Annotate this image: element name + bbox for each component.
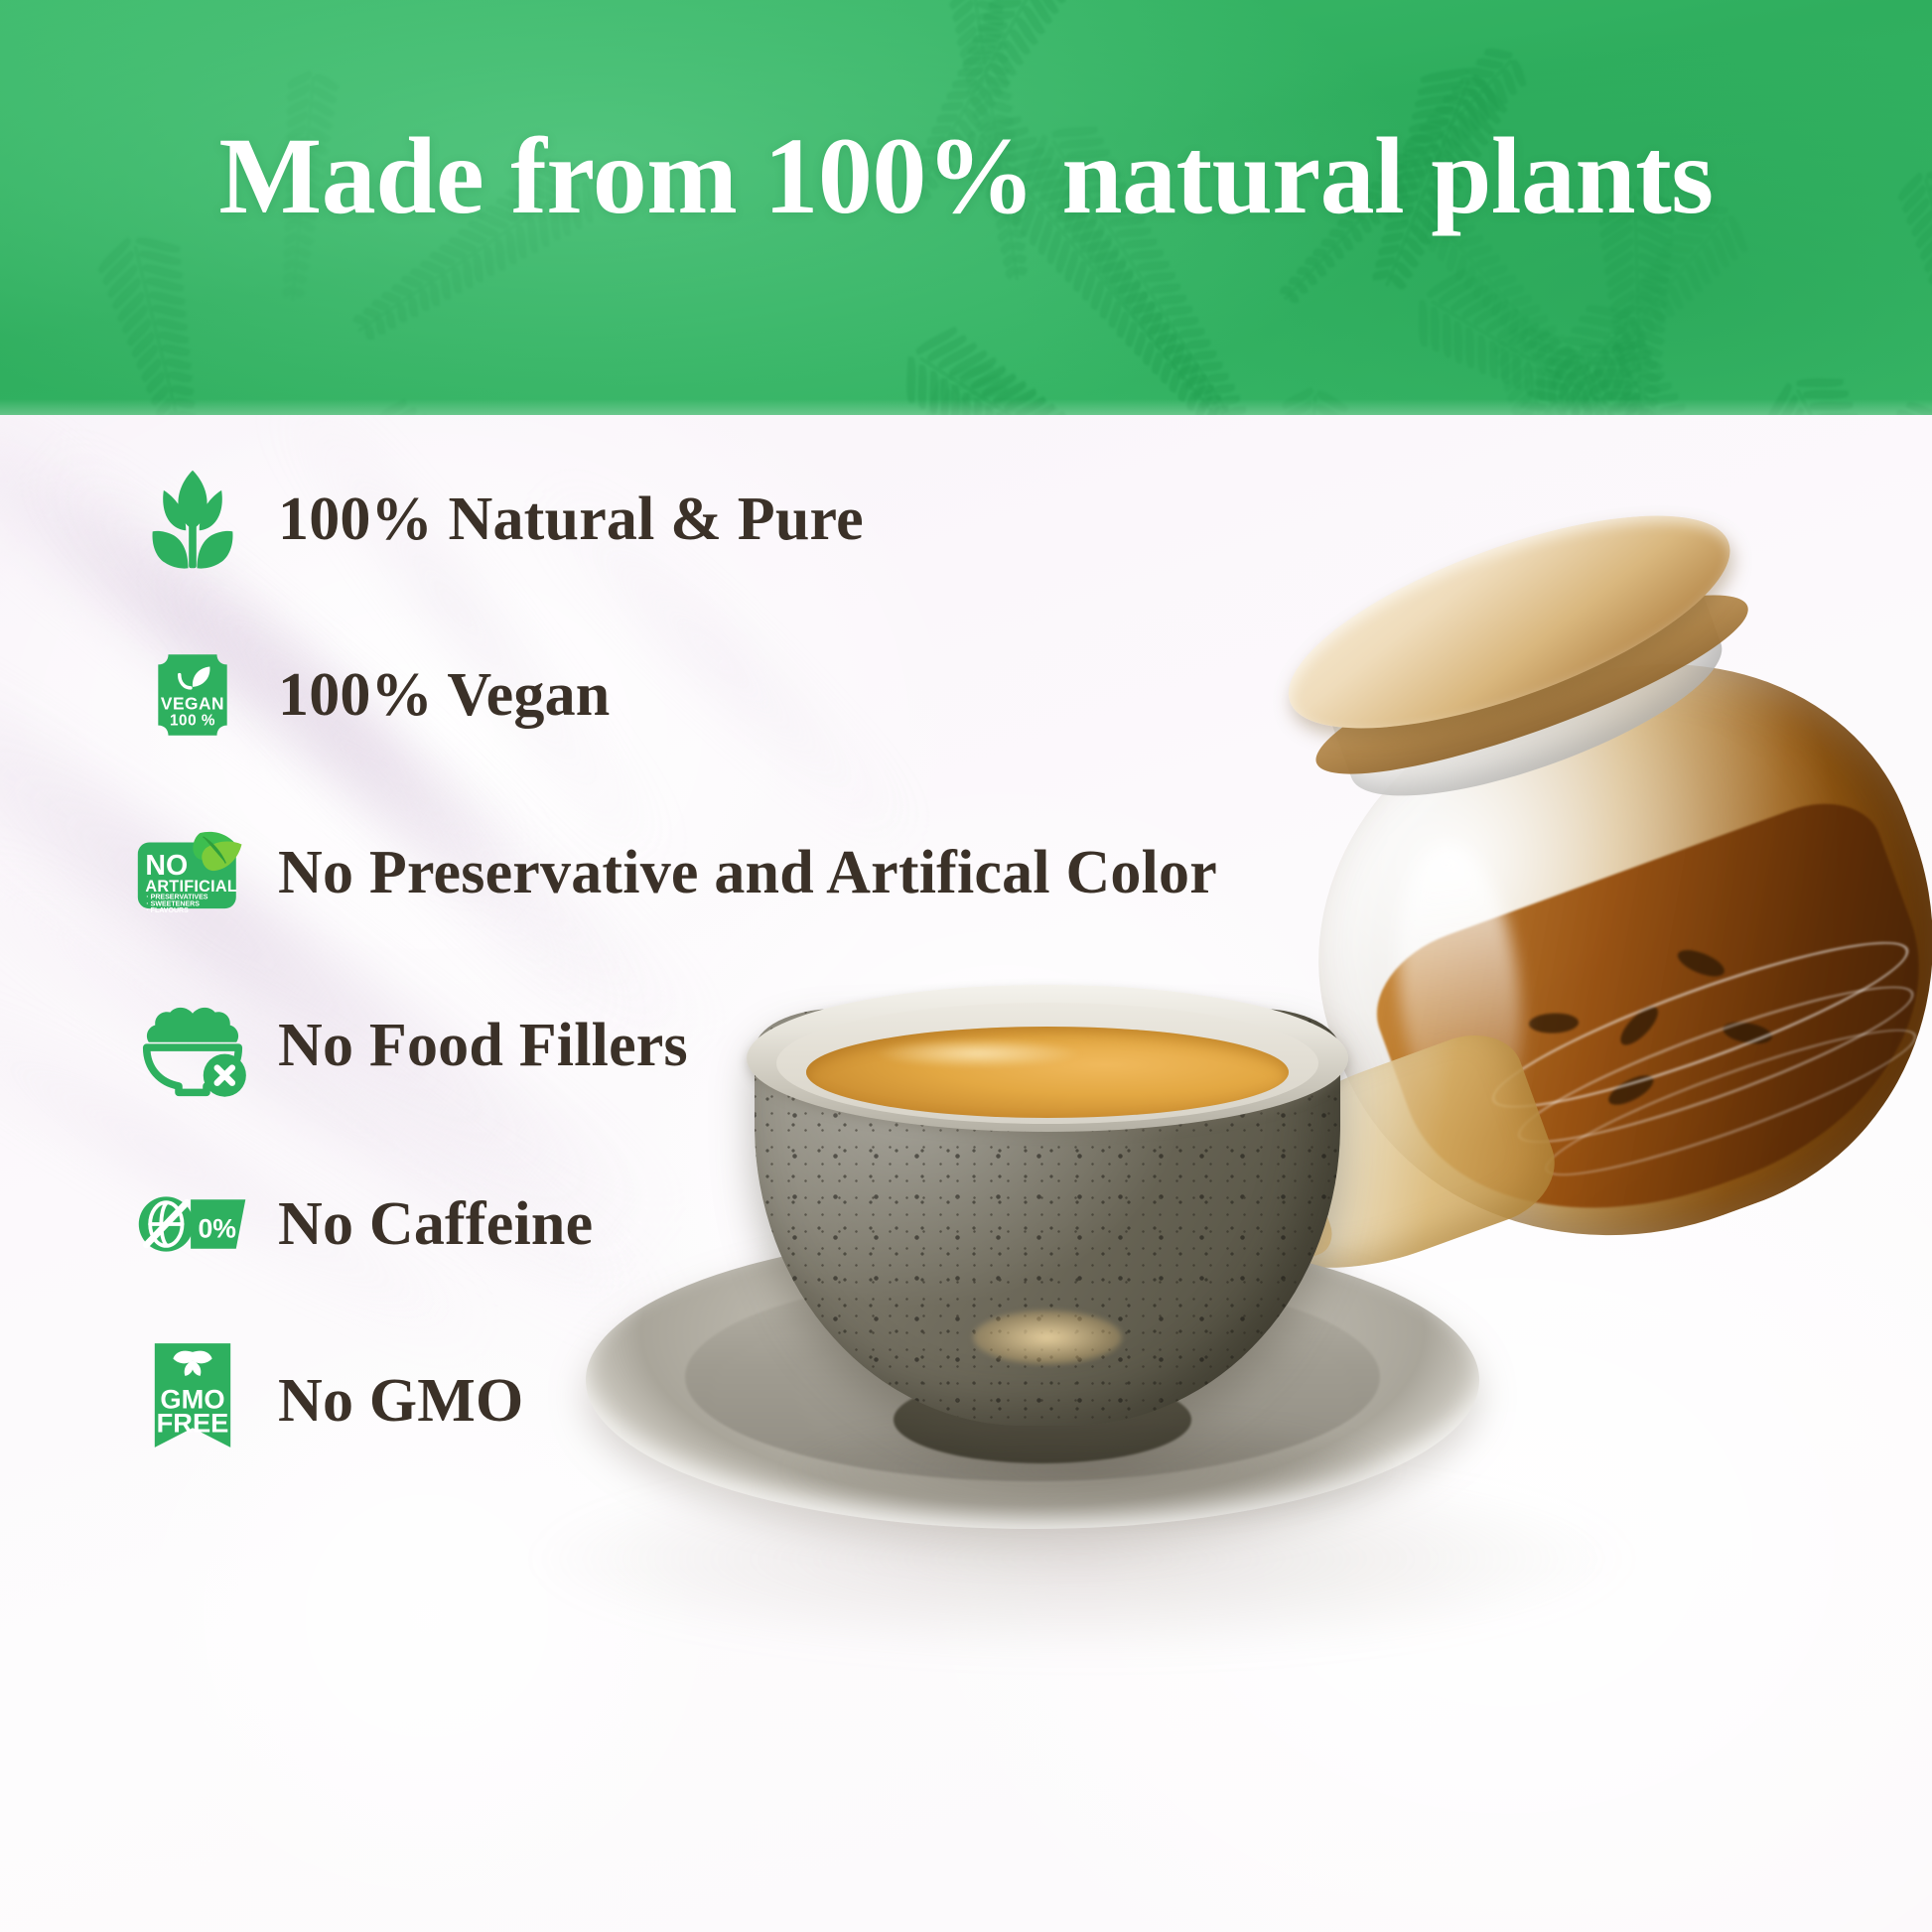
feature-label: No Caffeine <box>278 1189 593 1260</box>
vegan-badge-line1: VEGAN <box>161 693 224 713</box>
vegan-badge-line2: 100 % <box>170 713 215 730</box>
product-feature-banner: Made from 100% natural plants 100% Natur… <box>0 0 1932 1932</box>
feature-label: 100% Vegan <box>278 660 610 731</box>
list-item: VEGAN 100 % 100% Vegan <box>134 621 610 769</box>
tea-splash <box>973 1311 1122 1364</box>
list-item: No Food Fillers <box>134 971 688 1120</box>
vegan-100-badge-icon: VEGAN 100 % <box>134 636 251 754</box>
list-item: GMO FREE No GMO <box>134 1326 523 1475</box>
feature-label: No Food Fillers <box>278 1011 688 1081</box>
bowl-no-fillers-icon <box>134 987 251 1104</box>
cup-tea-liquid <box>806 1027 1289 1118</box>
page-title: Made from 100% natural plants <box>0 119 1932 234</box>
caffeine-percent-label: 0% <box>198 1213 235 1243</box>
cup-tea-highlight <box>874 1038 1082 1068</box>
banner-bottom-fade <box>0 399 1932 415</box>
no-artificial-badge-icon: NO ARTIFICIAL · PRESERVATIVES · SWEETENE… <box>134 814 251 931</box>
list-item: 0% No Caffeine <box>134 1150 593 1299</box>
gmo-badge-line2: FREE <box>157 1408 229 1439</box>
no-artificial-line5: · FLAVOURS <box>146 907 189 914</box>
no-caffeine-0-percent-icon: 0% <box>134 1166 251 1283</box>
plant-sprout-icon <box>134 461 251 578</box>
no-artificial-line2: ARTIFICIAL <box>145 878 237 896</box>
gmo-free-ribbon-icon: GMO FREE <box>134 1342 251 1459</box>
product-photo <box>695 536 1932 1932</box>
header-banner: Made from 100% natural plants <box>0 0 1932 415</box>
feature-label: No GMO <box>278 1366 523 1437</box>
